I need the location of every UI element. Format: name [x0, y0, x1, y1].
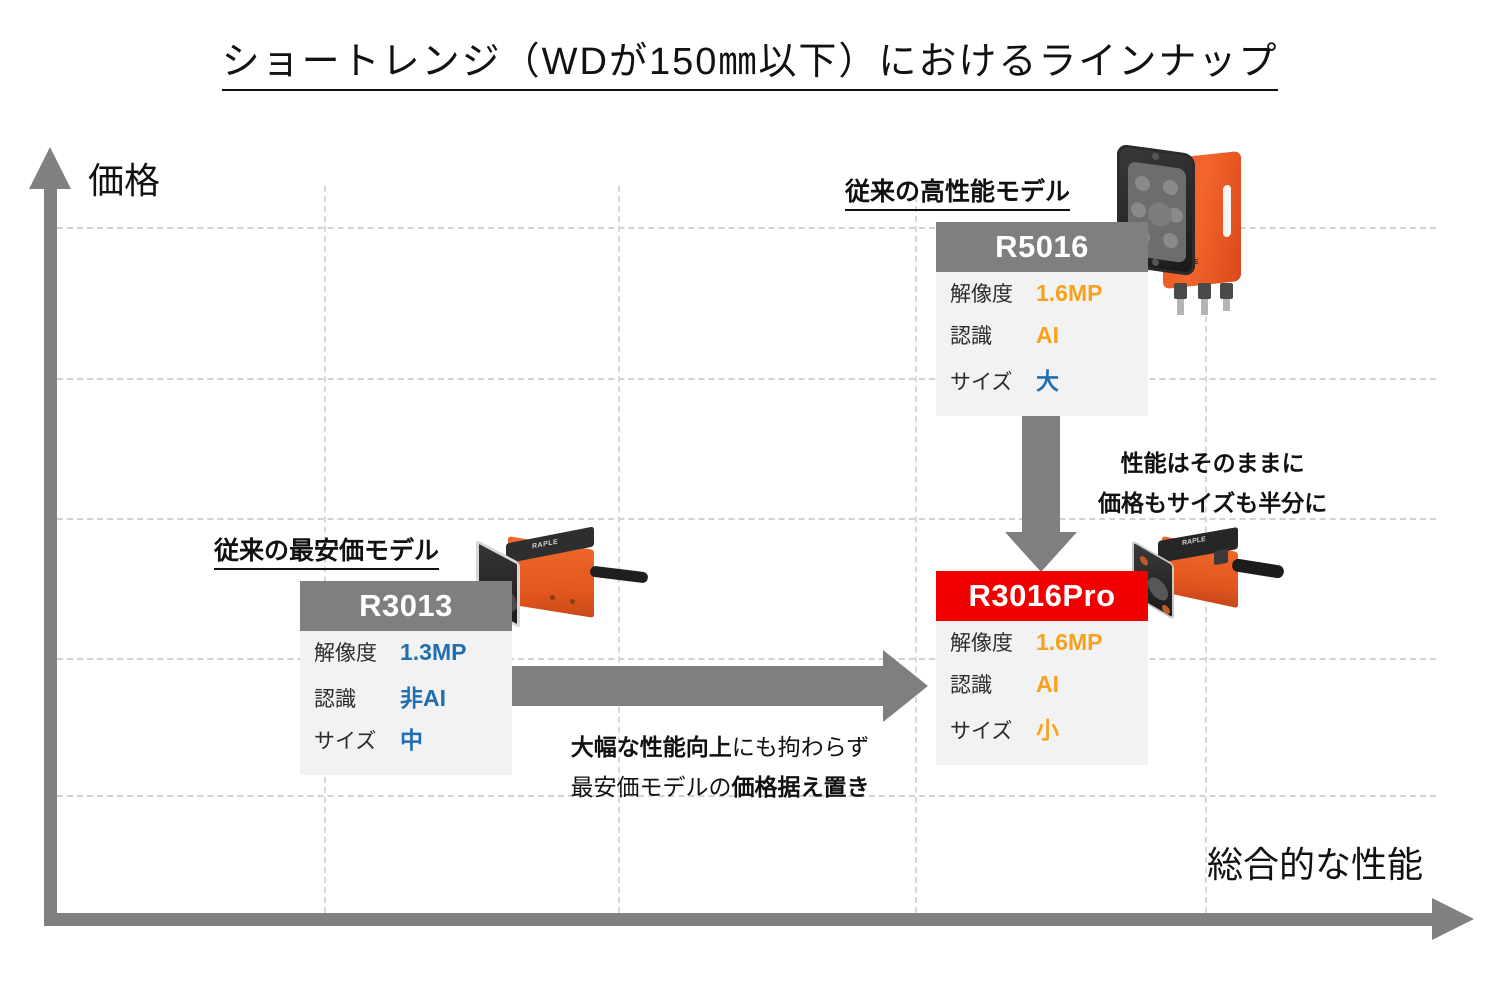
y-axis-label: 価格: [88, 152, 160, 204]
camera-image-r3016pro: RAPLE: [1128, 528, 1293, 620]
model-card-r3013[interactable]: R3013 解像度 1.3MP 認識 非AI サイズ 中: [300, 581, 512, 775]
gridline-vertical: [915, 186, 917, 913]
note-vertical-line2: 価格もサイズも半分に: [1098, 484, 1327, 524]
spec-row: サイズ 中: [300, 721, 512, 763]
spec-row: 認識 AI: [936, 669, 1148, 711]
spec-row: 認識 非AI: [300, 679, 512, 721]
note-horizontal-line2-rest: 最安価モデルの: [571, 774, 732, 800]
arrow-r5016-to-r3016pro-shaft: [1022, 404, 1060, 538]
callout-legacy-cheapest-text: 従来の最安価モデル: [214, 537, 439, 570]
arrow-r3013-to-r3016pro-head: [883, 650, 928, 722]
model-card-title-r5016: R5016: [936, 222, 1148, 272]
spec-value: 1.6MP: [1036, 629, 1102, 656]
spec-key: 解像度: [300, 637, 400, 667]
spec-value: 非AI: [400, 679, 446, 713]
note-horizontal-line2: 最安価モデルの価格据え置き: [555, 768, 885, 808]
model-card-r3016pro[interactable]: R3016Pro 解像度 1.6MP 認識 AI サイズ 小: [936, 571, 1148, 765]
spec-value: 中: [400, 721, 423, 755]
y-axis-arrowhead: [29, 147, 71, 189]
camera-indicator-stripe: [1223, 185, 1231, 238]
spec-key: 解像度: [936, 627, 1036, 657]
camera-cable: [590, 566, 649, 584]
camera-cable: [1231, 558, 1284, 579]
spec-value: 大: [1036, 362, 1059, 396]
model-card-title-r3016pro: R3016Pro: [936, 571, 1148, 621]
camera-status-panel: [1214, 549, 1228, 565]
note-horizontal-line1-bold: 大幅な性能向上: [571, 734, 732, 760]
spec-value: AI: [1036, 671, 1059, 698]
arrow-r5016-to-r3016pro-head: [1005, 532, 1077, 572]
spec-key: 認識: [936, 669, 1036, 699]
x-axis-arrowhead: [1432, 898, 1474, 940]
spec-value: 1.6MP: [1036, 280, 1102, 307]
y-axis-line: [44, 186, 57, 926]
spec-list-r5016: 解像度 1.6MP 認識 AI サイズ 大: [936, 272, 1148, 416]
callout-legacy-premium: 従来の高性能モデル: [845, 172, 1070, 208]
spec-row: 解像度 1.6MP: [936, 278, 1148, 320]
spec-row: サイズ 小: [936, 711, 1148, 753]
spec-row: 解像度 1.3MP: [300, 637, 512, 679]
spec-value: 小: [1036, 711, 1059, 745]
spec-list-r3013: 解像度 1.3MP 認識 非AI サイズ 中: [300, 631, 512, 775]
note-vertical-arrow: 性能はそのままに 価格もサイズも半分に: [1098, 444, 1327, 523]
callout-legacy-premium-text: 従来の高性能モデル: [845, 178, 1070, 211]
page-title: ショートレンジ（WDが150㎜以下）におけるラインナップ: [0, 30, 1500, 85]
spec-value: 1.3MP: [400, 639, 466, 666]
x-axis-label: 総合的な性能: [1207, 836, 1423, 888]
gridline-horizontal: [57, 378, 1436, 380]
x-axis-line: [44, 913, 1436, 926]
camera-lens: [1148, 201, 1172, 228]
slide-canvas: ショートレンジ（WDが150㎜以下）におけるラインナップ 価格 総合的な性能 従…: [0, 0, 1500, 1000]
note-horizontal-line1: 大幅な性能向上にも拘わらず: [555, 728, 885, 768]
gridline-horizontal: [57, 658, 1436, 660]
spec-row: サイズ 大: [936, 362, 1148, 404]
page-title-text: ショートレンジ（WDが150㎜以下）におけるラインナップ: [222, 41, 1279, 91]
note-horizontal-line1-rest: にも拘わらず: [732, 734, 870, 760]
spec-key: サイズ: [300, 725, 400, 755]
arrow-r3013-to-r3016pro-shaft: [495, 666, 885, 706]
camera-lens: [1148, 573, 1168, 605]
note-horizontal-line2-bold: 価格据え置き: [732, 774, 870, 800]
note-vertical-line1: 性能はそのままに: [1098, 444, 1327, 484]
spec-key: サイズ: [936, 715, 1036, 745]
spec-key: 解像度: [936, 278, 1036, 308]
model-card-title-r3013: R3013: [300, 581, 512, 631]
note-horizontal-arrow: 大幅な性能向上にも拘わらず 最安価モデルの価格据え置き: [555, 728, 885, 807]
callout-legacy-cheapest: 従来の最安価モデル: [214, 531, 439, 567]
model-card-r5016[interactable]: R5016 解像度 1.6MP 認識 AI サイズ 大: [936, 222, 1148, 416]
spec-row: 解像度 1.6MP: [936, 627, 1148, 669]
spec-key: サイズ: [936, 366, 1036, 396]
spec-row: 認識 AI: [936, 320, 1148, 362]
spec-key: 認識: [936, 320, 1036, 350]
spec-key: 認識: [300, 683, 400, 713]
spec-list-r3016pro: 解像度 1.6MP 認識 AI サイズ 小: [936, 621, 1148, 765]
spec-value: AI: [1036, 322, 1059, 349]
